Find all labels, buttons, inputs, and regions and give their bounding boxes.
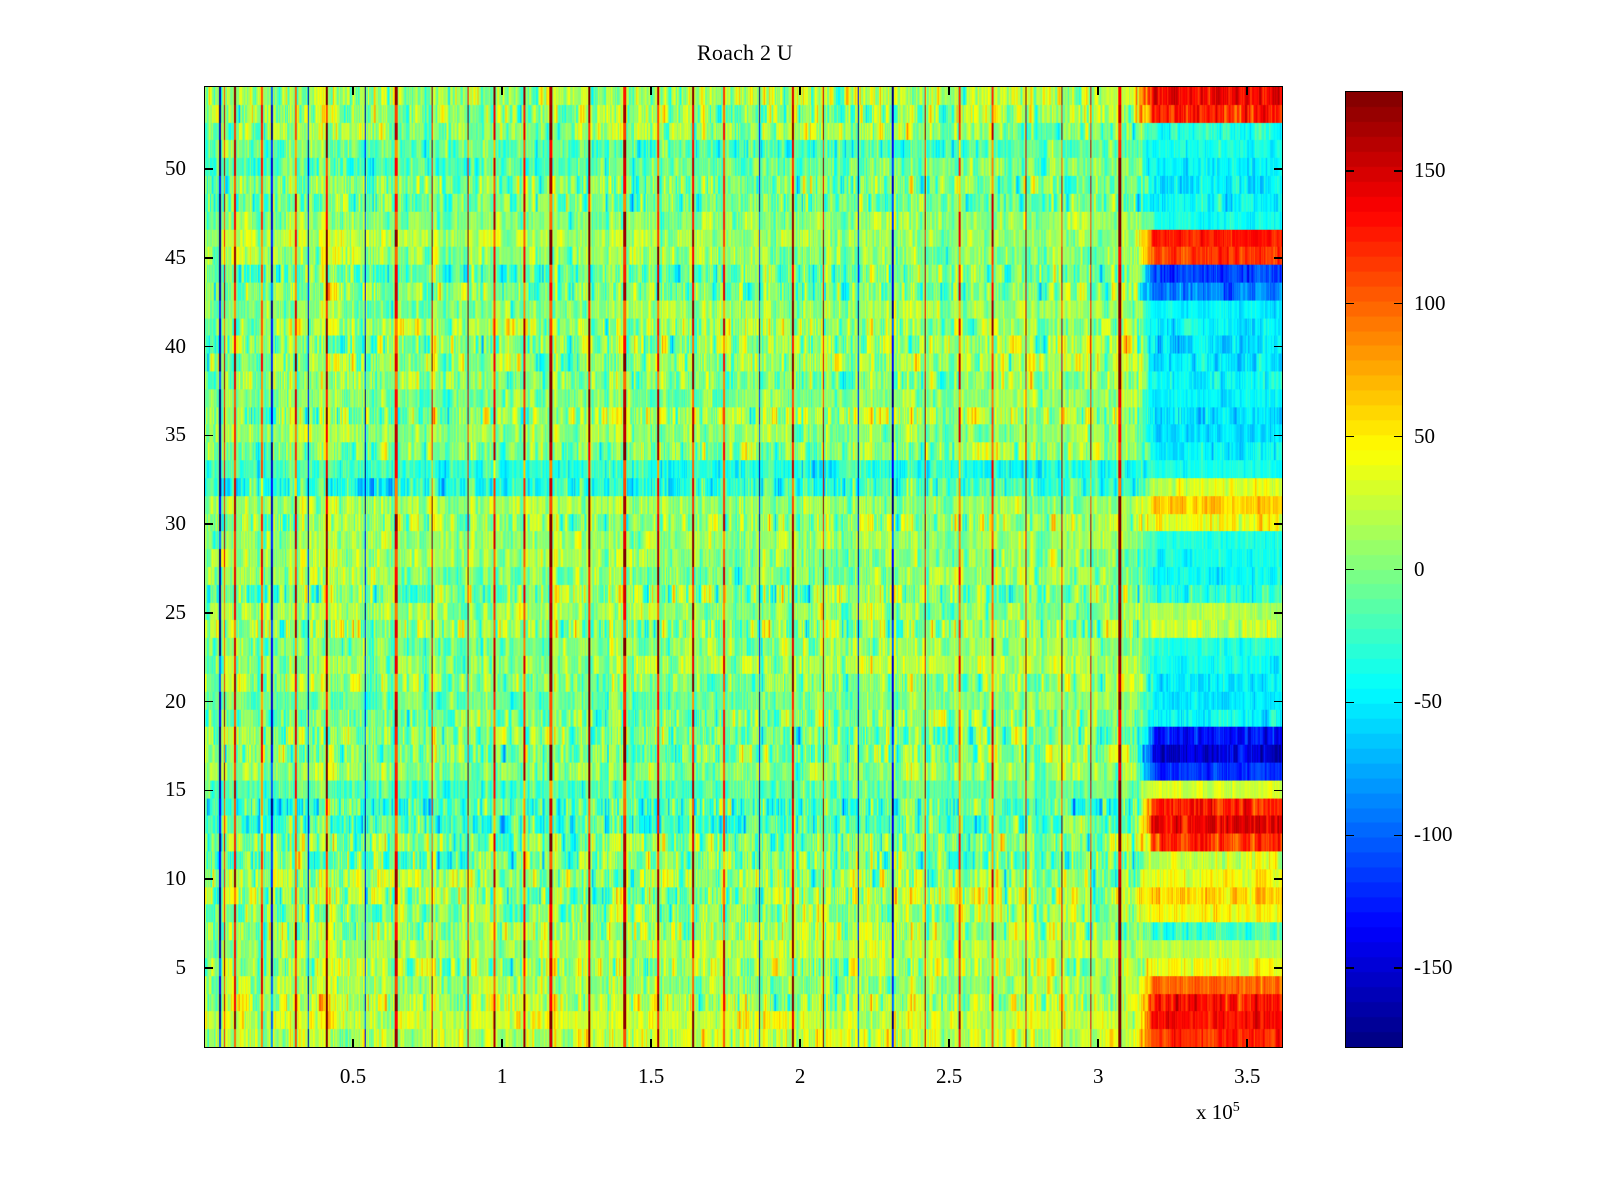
y-tick-label: 45: [96, 247, 186, 268]
y-tick-label: 30: [96, 513, 186, 534]
y-tick-mark: [204, 701, 213, 703]
colorbar-tick-mark: [1345, 436, 1354, 438]
y-tick-mark-right: [1274, 701, 1283, 703]
colorbar-tick-mark: [1345, 170, 1354, 172]
colorbar-tick-mark-right: [1394, 436, 1403, 438]
colorbar-tick-mark: [1345, 835, 1354, 837]
colorbar-tick-mark-right: [1394, 835, 1403, 837]
x-tick-label: 1: [457, 1066, 547, 1087]
y-tick-mark: [204, 878, 213, 880]
x-exponent-base: x 10: [1196, 1100, 1233, 1124]
x-tick-mark: [1246, 1039, 1248, 1048]
colorbar-tick-mark: [1345, 569, 1354, 571]
colorbar-tick-label: -150: [1414, 957, 1534, 978]
x-tick-label: 0.5: [308, 1066, 398, 1087]
colorbar-tick-mark-right: [1394, 303, 1403, 305]
x-tick-mark-top: [1246, 86, 1248, 95]
x-tick-label: 2: [755, 1066, 845, 1087]
x-tick-mark-top: [501, 86, 503, 95]
colorbar-tick-label: -50: [1414, 691, 1534, 712]
colorbar-tick-label: 0: [1414, 559, 1534, 580]
colorbar-tick-mark-right: [1394, 702, 1403, 704]
y-tick-mark-right: [1274, 346, 1283, 348]
colorbar-tick-mark-right: [1394, 170, 1403, 172]
x-tick-label: 3.5: [1202, 1066, 1292, 1087]
y-tick-mark: [204, 523, 213, 525]
x-tick-mark-top: [799, 86, 801, 95]
y-tick-label: 15: [96, 779, 186, 800]
y-tick-mark: [204, 612, 213, 614]
y-tick-mark: [204, 168, 213, 170]
x-tick-mark: [352, 1039, 354, 1048]
x-tick-mark: [1097, 1039, 1099, 1048]
y-tick-label: 50: [96, 158, 186, 179]
y-tick-mark-right: [1274, 523, 1283, 525]
heatmap-axes[interactable]: [204, 86, 1283, 1048]
y-tick-label: 20: [96, 691, 186, 712]
x-tick-label: 1.5: [606, 1066, 696, 1087]
y-tick-label: 35: [96, 424, 186, 445]
x-tick-mark: [501, 1039, 503, 1048]
y-tick-mark-right: [1274, 435, 1283, 437]
y-tick-mark: [204, 967, 213, 969]
colorbar-tick-label: 100: [1414, 293, 1534, 314]
x-tick-mark: [799, 1039, 801, 1048]
x-tick-label: 3: [1053, 1066, 1143, 1087]
x-tick-mark-top: [948, 86, 950, 95]
y-tick-mark: [204, 435, 213, 437]
colorbar-tick-mark-right: [1394, 569, 1403, 571]
y-tick-mark: [204, 790, 213, 792]
y-tick-label: 5: [96, 957, 186, 978]
colorbar-tick-label: 150: [1414, 160, 1534, 181]
y-tick-mark-right: [1274, 790, 1283, 792]
y-tick-label: 10: [96, 868, 186, 889]
plot-title: Roach 2 U: [0, 40, 1490, 66]
y-tick-mark-right: [1274, 612, 1283, 614]
x-tick-mark-top: [1097, 86, 1099, 95]
y-tick-mark-right: [1274, 878, 1283, 880]
x-tick-mark: [948, 1039, 950, 1048]
colorbar-tick-label: -100: [1414, 824, 1534, 845]
y-tick-label: 40: [96, 336, 186, 357]
x-tick-label: 2.5: [904, 1066, 994, 1087]
y-tick-mark-right: [1274, 168, 1283, 170]
y-tick-label: 25: [96, 602, 186, 623]
y-tick-mark-right: [1274, 967, 1283, 969]
matlab-figure: Roach 2 U 5101520253035404550 0.511.522.…: [0, 0, 1600, 1200]
y-tick-mark: [204, 257, 213, 259]
colorbar-tick-mark-right: [1394, 967, 1403, 969]
colorbar-tick-mark: [1345, 702, 1354, 704]
x-tick-mark-top: [650, 86, 652, 95]
colorbar-tick-mark: [1345, 967, 1354, 969]
colorbar-tick-label: 50: [1414, 426, 1534, 447]
x-exponent-power: 5: [1233, 1100, 1240, 1115]
x-tick-mark: [650, 1039, 652, 1048]
x-tick-mark-top: [352, 86, 354, 95]
y-tick-mark-right: [1274, 257, 1283, 259]
colorbar-tick-mark: [1345, 303, 1354, 305]
heatmap-image: [205, 87, 1282, 1047]
x-axis-exponent-label: x 105: [1196, 1100, 1240, 1125]
y-tick-mark: [204, 346, 213, 348]
